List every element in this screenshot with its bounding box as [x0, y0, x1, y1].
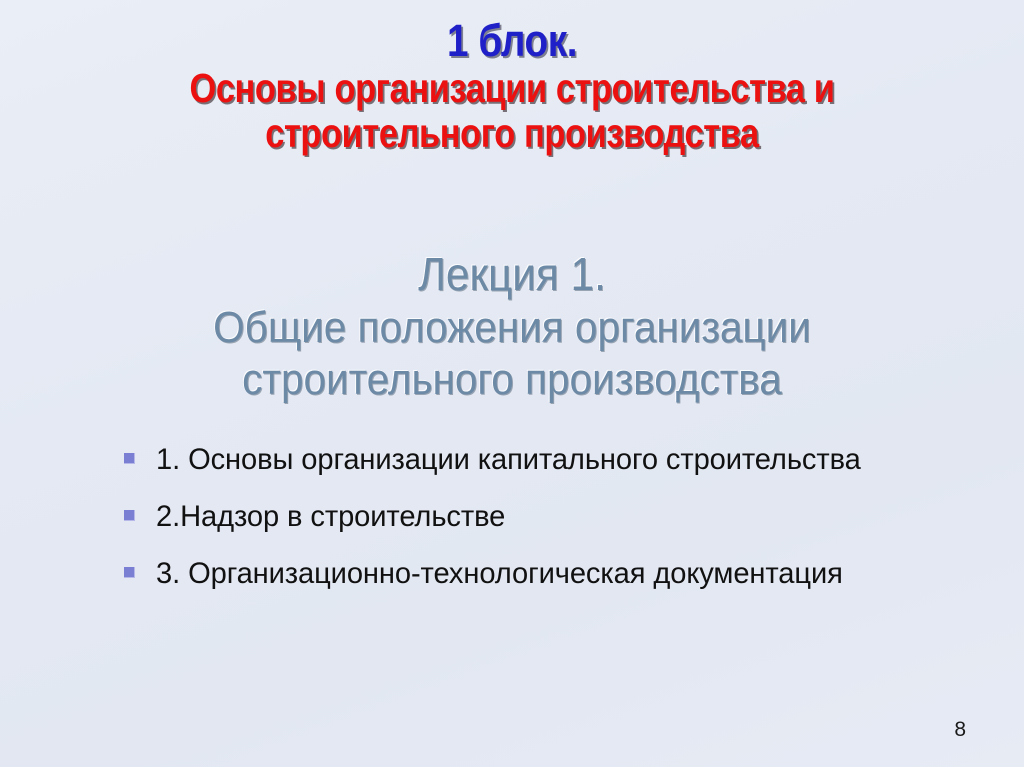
slide-heading-line-1: Основы организации строительства и: [82, 66, 942, 111]
list-item-label: 1. Основы организации капитального строи…: [156, 440, 891, 479]
square-bullet-icon: [124, 453, 135, 464]
list-item-label: 2.Надзор в строительстве: [156, 497, 891, 536]
list-item-label: 3. Организационно-технологическая докуме…: [156, 554, 891, 593]
list-item: 3. Организационно-технологическая докуме…: [124, 554, 914, 593]
square-bullet-icon: [124, 567, 135, 578]
slide-block-label: 1 блок.: [72, 16, 953, 66]
lecture-topic-line-2: строительного производства: [41, 354, 983, 406]
list-item: 2.Надзор в строительстве: [124, 497, 914, 536]
agenda-list: 1. Основы организации капитального строи…: [124, 440, 914, 611]
slide-page-number: 8: [954, 718, 966, 742]
lecture-label: Лекция 1.: [41, 246, 983, 302]
presentation-slide: 1 блок. Основы организации строительства…: [0, 0, 1024, 767]
slide-subtitle-block: Лекция 1. Общие положения организации ст…: [0, 246, 1024, 406]
list-item: 1. Основы организации капитального строи…: [124, 440, 914, 479]
slide-title-block: 1 блок. Основы организации строительства…: [0, 16, 1024, 156]
lecture-topic-line-1: Общие положения организации: [41, 302, 983, 354]
square-bullet-icon: [124, 510, 135, 521]
slide-heading-line-2: строительного производства: [82, 111, 942, 156]
